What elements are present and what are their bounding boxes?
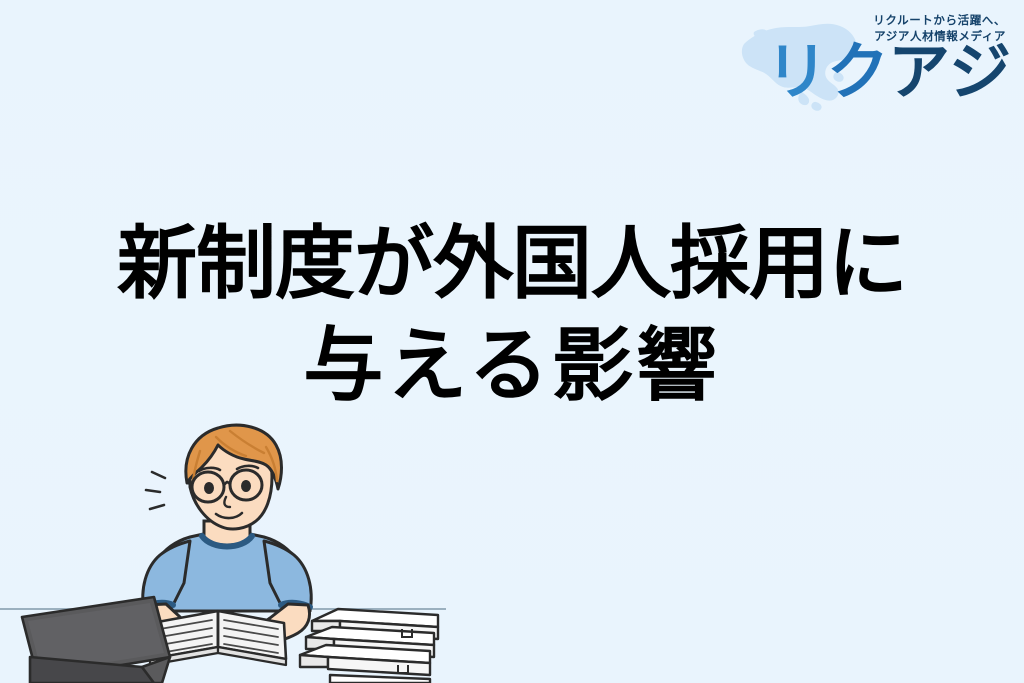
logo-char-4: ジ: [949, 42, 1010, 104]
page-title: 新制度が外国人採用に 与える影響: [0, 213, 1024, 418]
body: [143, 521, 311, 611]
motion-lines-icon: [146, 472, 165, 509]
logo-char-1: リ: [766, 42, 827, 104]
poster-canvas: リクルートから活躍へ、 アジア人材情報メディア リクアジ 新制度が外国人採用に …: [0, 0, 1024, 683]
student-illustration: [0, 421, 446, 683]
eye-right: [241, 480, 251, 492]
page-title-line2: 与える影響: [0, 315, 1024, 417]
logo-char-2: ク: [827, 42, 888, 104]
site-logo[interactable]: リクルートから活躍へ、 アジア人材情報メディア リクアジ: [738, 12, 1010, 116]
head: [186, 425, 282, 529]
logo-char-3: ア: [888, 42, 949, 104]
logo-wordmark[interactable]: リクアジ: [766, 42, 1010, 104]
page-title-line1: 新制度が外国人採用に: [0, 213, 1024, 315]
eye-left: [204, 482, 214, 494]
book-stack: [300, 609, 438, 683]
logo-tagline-line1: リクルートから活躍へ、: [873, 14, 1006, 30]
